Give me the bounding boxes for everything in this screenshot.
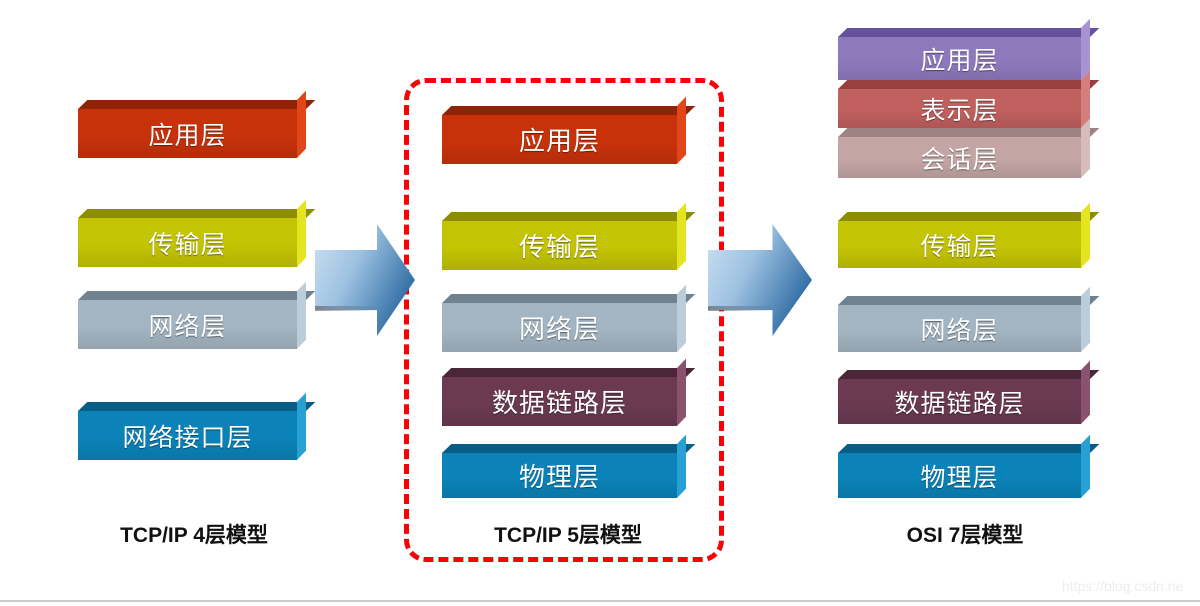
box-top-bevel: [78, 209, 315, 218]
column-caption-tcpip4: TCP/IP 4层模型: [74, 519, 314, 549]
layer-box-osi7-7: 物理层: [838, 444, 1090, 498]
box-front-face: 应用层: [78, 109, 297, 158]
box-top-bevel: [838, 444, 1099, 453]
box-front-face: 会话层: [838, 137, 1081, 178]
box-front-face: 网络层: [78, 300, 297, 349]
layer-box-tcpip5-4: 数据链路层: [442, 368, 686, 426]
box-top-bevel: [838, 212, 1099, 221]
box-side-bevel: [677, 285, 686, 352]
layer-label: 网络层: [148, 307, 226, 343]
box-side-bevel: [677, 435, 686, 498]
box-side-bevel: [1081, 119, 1090, 178]
layer-label: 传输层: [920, 227, 998, 263]
layer-box-tcpip5-3: 网络层: [442, 294, 686, 352]
box-front-face: 传输层: [442, 221, 677, 270]
layer-box-osi7-6: 数据链路层: [838, 370, 1090, 424]
layer-label: 表示层: [920, 91, 998, 127]
footer-divider: [0, 600, 1200, 602]
layer-box-tcpip5-5: 物理层: [442, 444, 686, 498]
box-side-bevel: [677, 97, 686, 164]
box-top-bevel: [78, 291, 315, 300]
layer-box-tcpip4-3: 网络层: [78, 291, 306, 349]
box-top-bevel: [442, 444, 695, 453]
box-front-face: 传输层: [78, 218, 297, 267]
layer-box-tcpip4-1: 应用层: [78, 100, 306, 158]
box-front-face: 网络层: [442, 303, 677, 352]
box-front-face: 表示层: [838, 89, 1081, 128]
box-top-bevel: [838, 80, 1099, 89]
box-front-face: 网络层: [838, 305, 1081, 352]
box-top-bevel: [442, 106, 695, 115]
box-front-face: 数据链路层: [838, 379, 1081, 424]
layer-box-osi7-2: 表示层: [838, 80, 1090, 128]
box-side-bevel: [677, 359, 686, 426]
layer-label: 网络接口层: [122, 418, 252, 454]
layer-box-osi7-1: 应用层: [838, 28, 1090, 80]
box-side-bevel: [297, 200, 306, 267]
box-front-face: 传输层: [838, 221, 1081, 268]
box-front-face: 数据链路层: [442, 377, 677, 426]
box-top-bevel: [442, 368, 695, 377]
layer-box-osi7-3: 会话层: [838, 128, 1090, 178]
box-side-bevel: [1081, 361, 1090, 424]
flow-arrow-icon-left: [315, 222, 415, 338]
layer-label: 应用层: [148, 116, 226, 152]
layer-box-tcpip5-2: 传输层: [442, 212, 686, 270]
box-front-face: 应用层: [442, 115, 677, 164]
box-top-bevel: [838, 28, 1099, 37]
box-front-face: 物理层: [442, 453, 677, 498]
box-side-bevel: [1081, 203, 1090, 268]
box-top-bevel: [442, 212, 695, 221]
box-front-face: 应用层: [838, 37, 1081, 80]
layer-label: 应用层: [920, 41, 998, 77]
box-side-bevel: [297, 282, 306, 349]
box-top-bevel: [838, 128, 1099, 137]
box-side-bevel: [297, 393, 306, 460]
box-side-bevel: [297, 91, 306, 158]
layer-box-osi7-4: 传输层: [838, 212, 1090, 268]
layer-label: 传输层: [519, 227, 600, 264]
box-side-bevel: [1081, 435, 1090, 498]
box-top-bevel: [838, 370, 1099, 379]
layer-label: 网络层: [920, 311, 998, 347]
layer-model-comparison-diagram: 应用层传输层网络层网络接口层TCP/IP 4层模型应用层传输层网络层数据链路层物…: [0, 0, 1200, 606]
column-caption-tcpip5: TCP/IP 5层模型: [448, 519, 688, 549]
flow-arrow-icon-right: [708, 222, 812, 338]
layer-box-tcpip4-4: 网络接口层: [78, 402, 306, 460]
box-front-face: 网络接口层: [78, 411, 297, 460]
watermark-text: https://blog.csdn.ne: [1062, 578, 1183, 594]
box-front-face: 物理层: [838, 453, 1081, 498]
box-side-bevel: [677, 203, 686, 270]
layer-label: 网络层: [519, 309, 600, 346]
box-top-bevel: [78, 402, 315, 411]
box-top-bevel: [442, 294, 695, 303]
layer-label: 数据链路层: [894, 384, 1024, 420]
column-caption-osi7: OSI 7层模型: [840, 519, 1090, 549]
layer-box-osi7-5: 网络层: [838, 296, 1090, 352]
layer-label: 传输层: [148, 225, 226, 261]
layer-label: 数据链路层: [492, 383, 627, 420]
layer-label: 应用层: [519, 121, 600, 158]
box-side-bevel: [1081, 287, 1090, 352]
box-top-bevel: [838, 296, 1099, 305]
layer-box-tcpip4-2: 传输层: [78, 209, 306, 267]
box-top-bevel: [78, 100, 315, 109]
layer-label: 物理层: [920, 458, 998, 494]
layer-box-tcpip5-1: 应用层: [442, 106, 686, 164]
layer-label: 会话层: [920, 140, 998, 176]
layer-label: 物理层: [519, 457, 600, 494]
